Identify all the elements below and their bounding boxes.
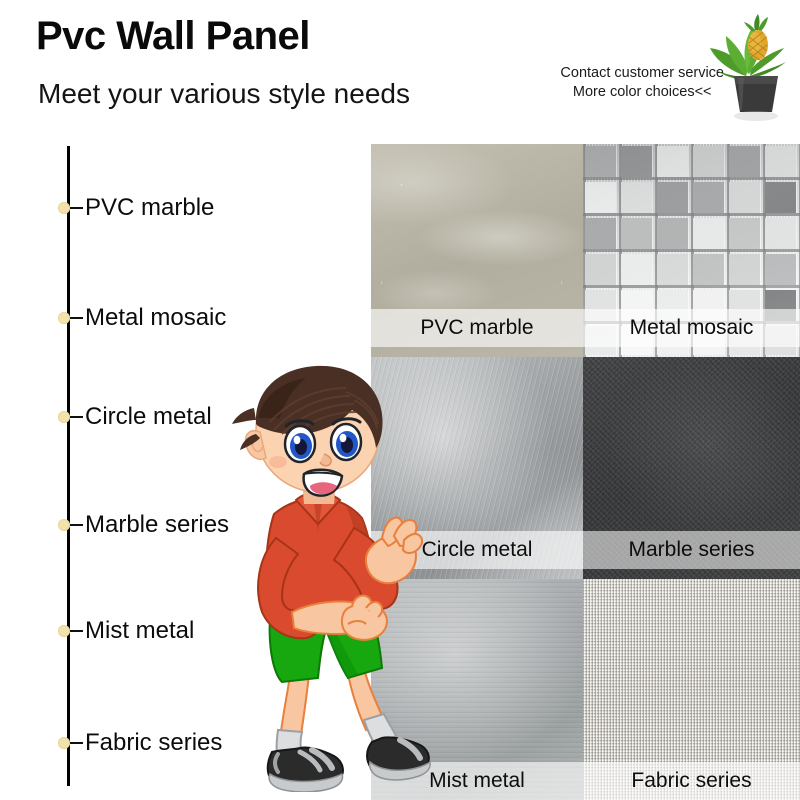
timeline-item-label: Mist metal <box>85 617 194 645</box>
timeline-dot-icon <box>58 312 70 324</box>
sample-tile-metal-mosaic[interactable]: Metal mosaic <box>583 144 800 357</box>
contact-line-1: Contact customer service <box>560 64 724 83</box>
page-title: Pvc Wall Panel <box>36 14 310 59</box>
timeline-item-metal-mosaic[interactable]: Metal mosaic <box>58 306 226 330</box>
timeline-dot-icon <box>58 202 70 214</box>
cartoon-boy-illustration <box>196 362 456 792</box>
timeline-dash-icon <box>70 416 83 418</box>
timeline-item-label: PVC marble <box>85 194 214 222</box>
timeline-dash-icon <box>70 207 83 209</box>
product-marketing-banner: Pvc Wall Panel Meet your various style n… <box>0 0 800 800</box>
sample-tile-pvc-marble[interactable]: PVC marble <box>371 144 583 357</box>
timeline-dash-icon <box>70 742 83 744</box>
timeline-dash-icon <box>70 317 83 319</box>
timeline-item-pvc-marble[interactable]: PVC marble <box>58 196 214 220</box>
contact-customer-service-text[interactable]: Contact customer service More color choi… <box>560 64 724 101</box>
timeline-item-label: Metal mosaic <box>85 304 226 332</box>
timeline-dot-icon <box>58 519 70 531</box>
timeline-dot-icon <box>58 411 70 423</box>
timeline-item-label: Circle metal <box>85 403 212 431</box>
sample-tile-caption: Marble series <box>583 531 800 569</box>
timeline-dot-icon <box>58 737 70 749</box>
sample-tile-marble-series[interactable]: Marble series <box>583 357 800 579</box>
timeline-dash-icon <box>70 524 83 526</box>
timeline-item-circle-metal[interactable]: Circle metal <box>58 405 212 429</box>
timeline-dash-icon <box>70 630 83 632</box>
sample-tile-caption: PVC marble <box>371 309 583 347</box>
contact-line-2: More color choices<< <box>560 83 724 102</box>
timeline-axis <box>67 146 70 786</box>
timeline-dot-icon <box>58 625 70 637</box>
sample-tile-fabric-series[interactable]: Fabric series <box>583 579 800 800</box>
potted-pineapple-plant-icon <box>708 12 786 124</box>
sample-tile-caption: Metal mosaic <box>583 309 800 347</box>
page-subtitle: Meet your various style needs <box>38 78 410 110</box>
sample-tile-caption: Fabric series <box>583 762 800 800</box>
timeline-item-mist-metal[interactable]: Mist metal <box>58 619 194 643</box>
